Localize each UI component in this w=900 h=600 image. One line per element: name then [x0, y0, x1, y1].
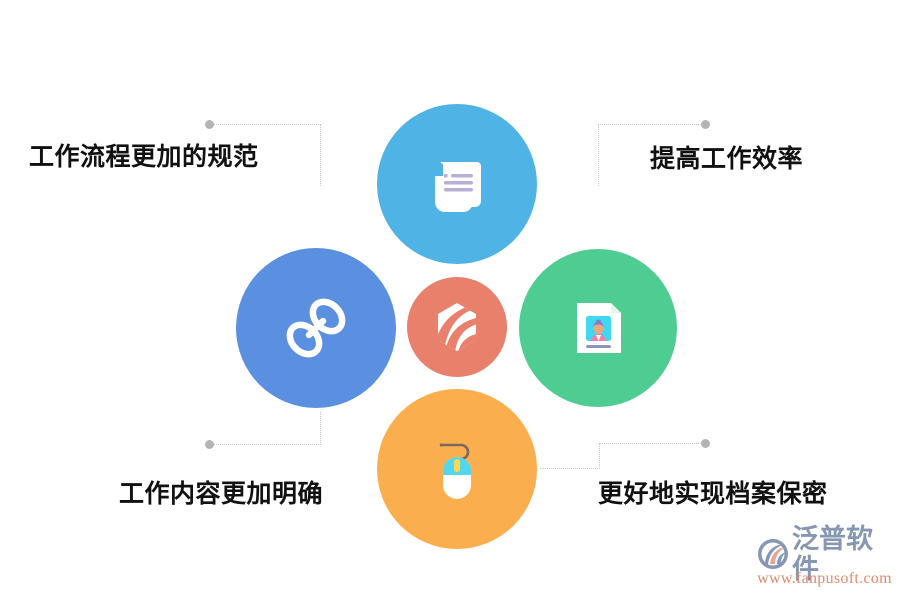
connector-line-top-left-h — [214, 124, 321, 125]
connector-line-bottom-right-v — [599, 443, 600, 469]
node-scroll[interactable] — [377, 104, 537, 264]
label-top-right: 提高工作效率 — [650, 139, 803, 175]
connector-dot-top-left — [205, 120, 214, 129]
node-brand[interactable] — [407, 277, 507, 377]
connector-line-top-right-h — [598, 124, 703, 125]
node-mouse[interactable] — [377, 389, 537, 549]
label-bottom-right: 更好地实现档案保密 — [598, 474, 828, 510]
connector-line-bottom-right-h — [599, 443, 703, 444]
connector-line-top-right-v — [598, 124, 599, 186]
logo-website-url: www.fanpusoft.com — [757, 570, 892, 588]
label-bottom-left: 工作内容更加明确 — [119, 474, 323, 510]
node-link[interactable] — [236, 248, 396, 408]
id-card-icon — [561, 291, 635, 365]
connector-line-bottom-left-v — [320, 412, 321, 445]
connector-dot-bottom-left — [205, 440, 214, 449]
connector-line-top-left-v — [320, 124, 321, 186]
label-top-left: 工作流程更加的规范 — [29, 137, 259, 173]
connector-line-bottom-left-h — [214, 444, 321, 445]
fanpu-logo-mark — [757, 538, 789, 570]
mouse-icon — [417, 429, 497, 509]
logo-row: 泛普软件 — [757, 536, 892, 572]
chain-link-icon — [276, 288, 356, 368]
hex-leaf-icon — [431, 301, 483, 353]
diagram-canvas: 工作流程更加的规范 提高工作效率 工作内容更加明确 更好地实现档案保密 — [0, 0, 900, 600]
scroll-icon — [420, 147, 494, 221]
node-idcard[interactable] — [519, 249, 677, 407]
connector-line-bottom-right-h2 — [540, 468, 600, 469]
brand-logo: 泛普软件 www.fanpusoft.com — [757, 536, 892, 592]
